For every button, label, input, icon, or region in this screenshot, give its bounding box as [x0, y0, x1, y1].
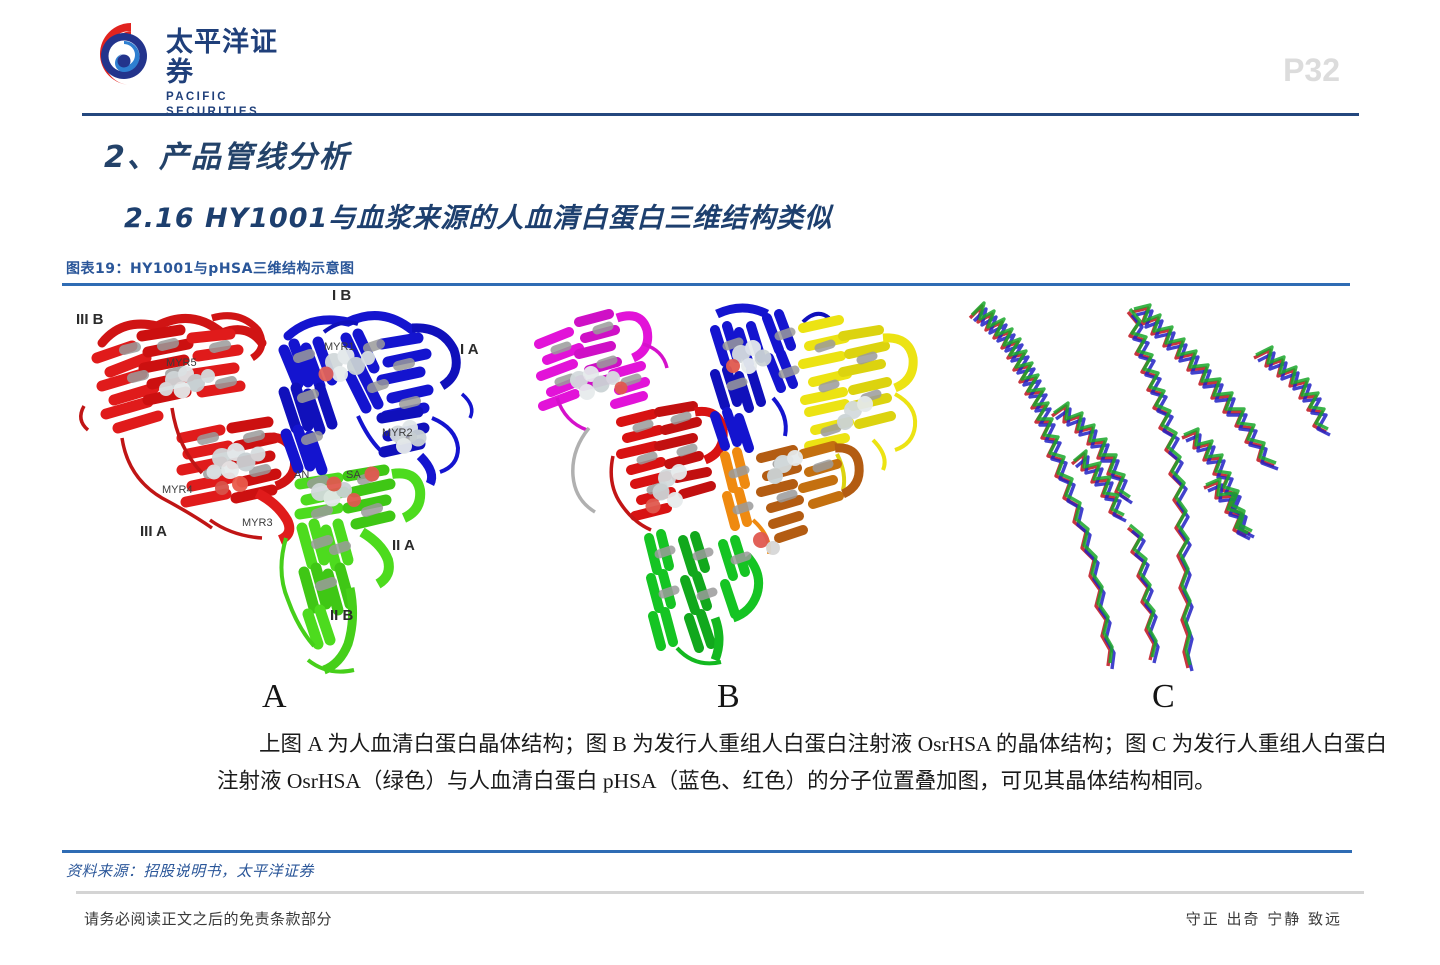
footer-disclaimer: 请务必阅读正文之后的免责条款部分: [84, 908, 332, 929]
label-myr5: MYR5: [166, 357, 197, 369]
panel-a-domain-ii-green: II A II B AN SA: [281, 467, 420, 672]
label-myr4: MYR4: [162, 484, 193, 496]
panel-b-green-domain: [649, 534, 759, 663]
section-title: 2、产品管线分析: [104, 132, 351, 176]
panel-a-domain-iii-red: III B III A MYR5 MYR4 MYR3: [76, 311, 295, 540]
page-number: P32: [1283, 52, 1340, 89]
panel-letter-b: B: [717, 678, 740, 716]
label-domain-ii-a: II A: [392, 537, 415, 554]
brand-wordmark: 太平洋证券 PACIFIC SECURITIES: [166, 28, 299, 120]
slide-header: 太平洋证券 PACIFIC SECURITIES P32: [0, 0, 1440, 120]
panel-a-hsa-crystal-structure: III B III A MYR5 MYR4 MYR3: [62, 288, 532, 688]
panel-b-orange-domain: [725, 446, 859, 555]
panel-a-domain-i-blue: I A I B MYR1 MYR2: [284, 288, 479, 484]
footer-divider: [76, 891, 1364, 894]
label-sa: SA: [346, 469, 361, 481]
panel-b-osrhsa-crystal-structure: [517, 288, 937, 688]
label-an: AN: [294, 469, 309, 481]
footer-slogan: 守正 出奇 宁静 致远: [1186, 908, 1342, 929]
label-domain-iii-b: III B: [76, 311, 104, 328]
figure-note-text: 上图 A 为人血清白蛋白晶体结构；图 B 为发行人重组人白蛋白注射液 OsrHS…: [217, 732, 1387, 793]
panel-letter-c: C: [1152, 678, 1175, 716]
label-myr2: MYR2: [382, 427, 413, 439]
exhibit-top-divider: [62, 283, 1350, 286]
exhibit-caption: 图表19：HY1001与pHSA三维结构示意图: [66, 258, 354, 278]
panel-letter-a: A: [262, 678, 287, 716]
label-domain-ii-b: II B: [330, 607, 354, 624]
panel-c-backbone-superposition: [932, 288, 1352, 688]
label-domain-iii-a: III A: [140, 523, 167, 540]
brand-logo: 太平洋证券 PACIFIC SECURITIES: [84, 14, 299, 94]
label-domain-i-b: I B: [332, 288, 351, 304]
pacific-securities-swirl-logo-icon: [84, 18, 156, 90]
label-myr1: MYR1: [324, 341, 355, 353]
brand-name-cn: 太平洋证券: [166, 28, 299, 88]
exhibit-bottom-divider: [62, 850, 1352, 853]
source-note: 资料来源：招股说明书，太平洋证券: [66, 860, 314, 881]
label-myr3: MYR3: [242, 517, 273, 529]
exhibit-figure: III B III A MYR5 MYR4 MYR3: [62, 288, 1352, 848]
panel-b-red-domain: [611, 406, 723, 530]
label-domain-i-a: I A: [460, 341, 479, 358]
figure-note: 上图 A 为人血清白蛋白晶体结构；图 B 为发行人重组人白蛋白注射液 OsrHS…: [217, 726, 1387, 800]
header-divider: [82, 113, 1359, 116]
page-title: 2.16 HY1001与血浆来源的人血清白蛋白三维结构类似: [124, 196, 832, 235]
